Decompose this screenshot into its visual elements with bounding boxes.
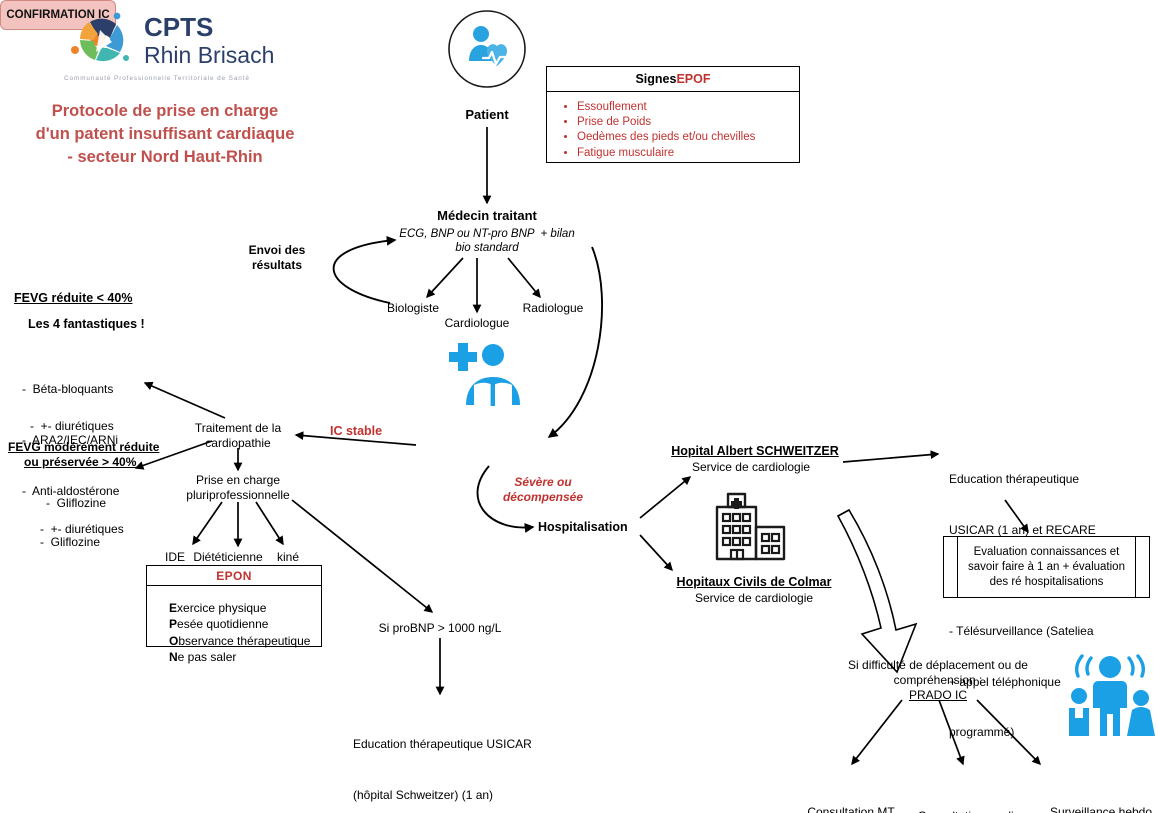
medecin-traitant-label: Médecin traitant — [437, 208, 537, 224]
traitement-line1: Traitement de la — [195, 421, 281, 436]
education-usicar-line2: (hôpital Schweitzer) (1 an) — [353, 787, 532, 804]
epof-title-acronym: EPOF — [676, 72, 710, 86]
list-item: Exercice physique — [169, 600, 321, 616]
epon-initial-n: N — [169, 650, 178, 664]
page-title-line1: Protocole de prise en charge — [10, 100, 320, 123]
list-item: Observance thérapeutique — [169, 633, 321, 649]
fevg-reduite-extra: - +- diurétiques — [30, 419, 114, 434]
epon-rest-o: bservance thérapeutique — [178, 634, 310, 648]
epon-box-title: EPON — [147, 566, 321, 586]
prado-outcome-0-line1: Consultation MT — [807, 804, 894, 813]
epof-symptom-list: Essouflement Prise de Poids Oedèmes des … — [547, 92, 799, 161]
severe-label-line2: décompensée — [503, 490, 583, 505]
evaluation-line1: Evaluation connaissances et — [958, 545, 1135, 560]
hospital-schweitzer-service: Service de cardiologie — [692, 460, 810, 475]
fevg-reduite-subheading: Les 4 fantastiques ! — [28, 317, 145, 332]
probnp-education-block: Education thérapeutique USICAR (hôpital … — [353, 702, 532, 813]
fevg-preservee-heading-line1: FEVG modérément réduite — [8, 440, 159, 455]
patient-label: Patient — [465, 107, 508, 123]
large-curved-arrow — [838, 510, 916, 672]
epon-rest-n: e pas saler — [178, 650, 237, 664]
professional-ide: IDE — [165, 550, 185, 565]
prado-outcome-1: Consultation cardio dans les 2 mois — [918, 775, 1021, 813]
list-item: - Gliflozine — [22, 534, 119, 551]
ic-stable-label: IC stable — [330, 424, 382, 439]
prise-en-charge-line1: Prise en charge — [196, 473, 280, 488]
prado-outcome-0: Consultation MT dans les 7 jours — [807, 771, 894, 813]
hospital-building-icon — [708, 492, 802, 567]
biologiste-label: Biologiste — [387, 301, 439, 316]
cardiologue-label: Cardiologue — [445, 316, 510, 331]
fevg-preservee-drug-1: - +- diurétiques — [40, 522, 124, 537]
list-item: Pesée quotidienne — [169, 616, 321, 632]
education-line1: Education thérapeutique — [949, 471, 1096, 488]
prado-outcome-2: Surveillance hebdo par l'IDEL pendant 2 … — [1050, 771, 1152, 813]
epon-item-list: Exercice physique Pesée quotidienne Obse… — [147, 586, 321, 665]
page-title: Protocole de prise en charge d'un patent… — [10, 100, 320, 168]
prado-label: PRADO IC — [909, 688, 967, 703]
patient-heart-icon — [447, 9, 527, 89]
cpts-rhin-brisach-logo: CPTS Rhin Brisach Communauté Professionn… — [60, 8, 295, 86]
evaluation-text: Evaluation connaissances et savoir faire… — [958, 545, 1135, 590]
epon-initial-p: P — [169, 617, 177, 631]
education-usicar-line1: Education thérapeutique USICAR — [353, 736, 532, 753]
medical-care-icon — [444, 333, 530, 411]
hospitalisation-label: Hospitalisation — [538, 520, 628, 535]
medecin-exams-line2: bio standard — [455, 241, 518, 255]
page-title-line2: d'un patent insuffisant cardiaque — [10, 123, 320, 146]
logo-tagline: Communauté Professionnelle Territoriale … — [64, 75, 250, 82]
evaluation-line2: savoir faire à 1 an + évaluation — [958, 560, 1135, 575]
list-item: Fatigue musculaire — [577, 146, 799, 161]
epof-box-title: Signes EPOF — [547, 67, 799, 92]
list-item: Essouflement — [577, 100, 799, 115]
medecin-exams-line1: ECG, BNP ou NT-pro BNP + bilan — [399, 227, 574, 241]
hospital-colmar-name: Hopitaux Civils de Colmar — [677, 575, 832, 590]
prado-condition-line2: compréhension : — [894, 673, 983, 688]
logo-mark-icon — [71, 13, 129, 62]
logo-subtitle: Rhin Brisach — [144, 42, 274, 68]
prado-outcome-1-line1: Consultation cardio — [918, 808, 1021, 813]
education-line4: - Télésurveillance (Sateliea — [949, 623, 1096, 640]
diagram-canvas: CPTS Rhin Brisach Communauté Professionn… — [0, 0, 1158, 813]
list-item: Oedèmes des pieds et/ou chevilles — [577, 130, 799, 145]
people-group-icon — [1062, 650, 1158, 740]
epon-rest-p: esée quotidienne — [177, 617, 268, 631]
envoi-resultats-line1: Envoi des — [249, 243, 306, 258]
traitement-line2: cardiopathie — [205, 436, 270, 451]
epon-initial-o: O — [169, 634, 178, 648]
envoi-resultats-line2: résultats — [252, 258, 302, 273]
logo-title: CPTS — [144, 12, 213, 42]
epon-box: EPON Exercice physique Pesée quotidienne… — [146, 565, 322, 647]
professional-dieteticienne: Diététicienne — [193, 550, 262, 565]
hospital-colmar-service: Service de cardiologie — [695, 591, 813, 606]
fevg-preservee-drug-0: - Gliflozine — [46, 496, 106, 511]
list-item: Ne pas saler — [169, 649, 321, 665]
prado-condition-line1: Si difficulté de déplacement ou de — [848, 658, 1028, 673]
page-title-line3: - secteur Nord Haut-Rhin — [10, 146, 320, 169]
severe-label-line1: Sévère ou — [514, 475, 571, 490]
list-item: - Béta-bloquants — [22, 381, 119, 398]
probnp-condition: Si proBNP > 1000 ng/L — [379, 621, 502, 636]
radiologue-label: Radiologue — [523, 301, 584, 316]
fevg-preservee-heading-line2: ou préservée > 40% — [24, 455, 136, 470]
evaluation-box: Evaluation connaissances et savoir faire… — [943, 536, 1150, 598]
epof-title-prefix: Signes — [635, 72, 676, 86]
evaluation-line3: des ré hospitalisations — [958, 575, 1135, 590]
epof-signs-box: Signes EPOF Essouflement Prise de Poids … — [546, 66, 800, 163]
fevg-reduite-heading: FEVG réduite < 40% — [14, 291, 132, 306]
prise-en-charge-line2: pluriprofessionnelle — [186, 488, 289, 503]
prado-outcome-2-line1: Surveillance hebdo — [1050, 804, 1152, 813]
professional-kine: kiné — [277, 550, 299, 565]
epon-rest-e: xercice physique — [177, 601, 266, 615]
evaluation-right-divider — [1135, 537, 1136, 597]
hospital-schweitzer-name: Hopital Albert SCHWEITZER — [671, 444, 839, 459]
list-item: Prise de Poids — [577, 115, 799, 130]
epon-initial-e: E — [169, 601, 177, 615]
